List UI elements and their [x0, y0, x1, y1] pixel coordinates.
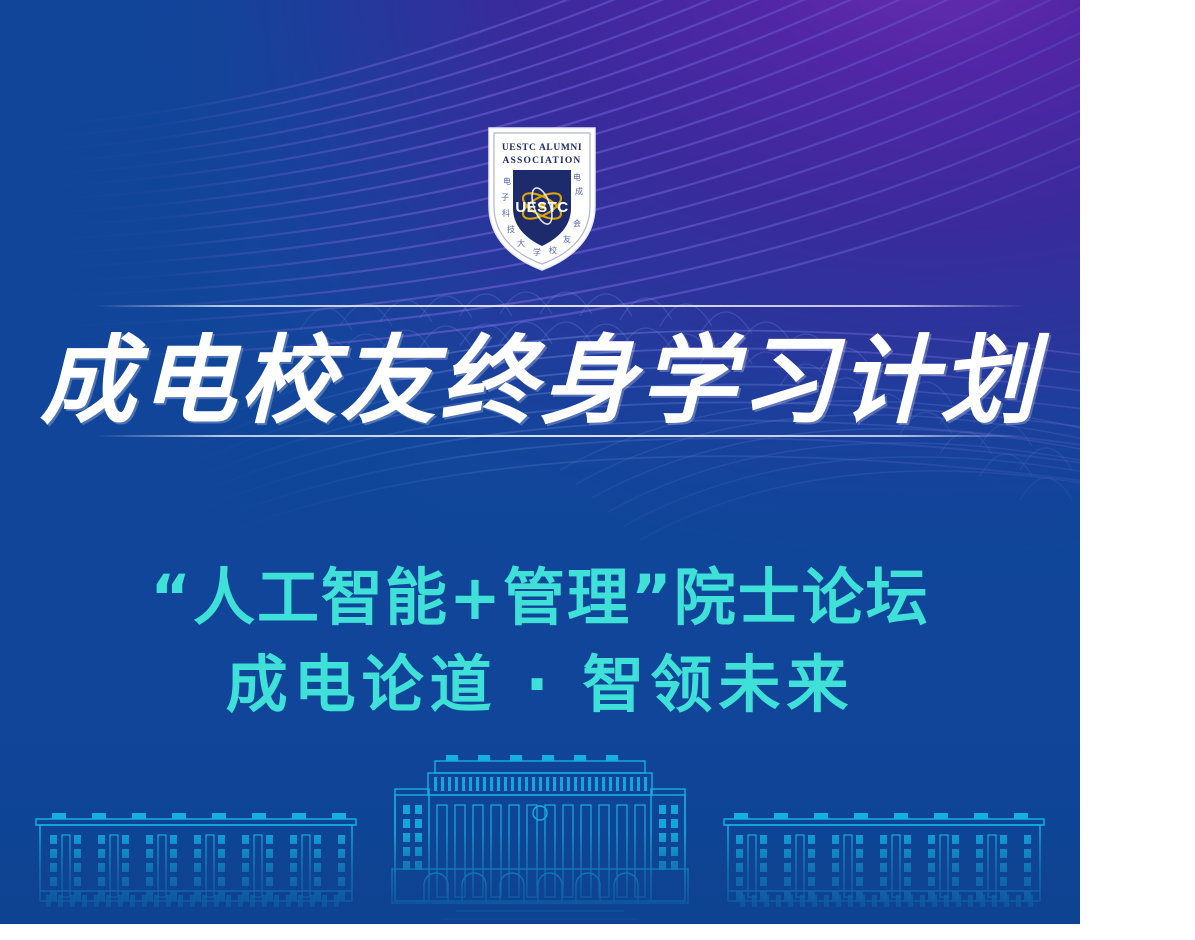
uestc-main-building-line-art: [0, 739, 1080, 924]
emblem-ring-glyph: 电: [503, 176, 511, 186]
emblem-center-text: UESTC: [515, 199, 568, 216]
emblem-ring-glyph: 友: [563, 234, 571, 244]
emblem-ring-glyph: 校: [549, 245, 557, 255]
subtitle-block: “人工智能+管理”院士论坛 成电论道 · 智领未来: [0, 556, 1080, 730]
emblem-ring-glyph: 大: [517, 238, 525, 248]
emblem-ring-glyph: 技: [507, 224, 515, 234]
emblem-top-text-line2: ASSOCIATION: [502, 156, 581, 166]
poster-canvas: UESTC ALUMNI ASSOCIATION UESTC 电 子 科 技 大: [0, 0, 1080, 924]
subtitle-line-1: “人工智能+管理”院士论坛: [0, 556, 1080, 640]
emblem-ring-glyph: 科: [502, 208, 510, 218]
emblem-ring-glyph: 电: [573, 172, 581, 182]
emblem-ring-glyph: 学: [533, 247, 541, 257]
page-title: 成电校友终身学习计划: [0, 312, 1080, 432]
emblem-top-text-line1: UESTC ALUMNI: [502, 143, 582, 153]
uestc-alumni-association-emblem: UESTC ALUMNI ASSOCIATION UESTC 电 子 科 技 大: [483, 122, 601, 274]
emblem-ring-glyph: 成: [575, 186, 583, 196]
subtitle-line-2: 成电论道 · 智领未来: [0, 640, 1080, 730]
emblem-ring-glyph: 会: [573, 218, 581, 228]
emblem-ring-glyph: 子: [501, 193, 509, 202]
